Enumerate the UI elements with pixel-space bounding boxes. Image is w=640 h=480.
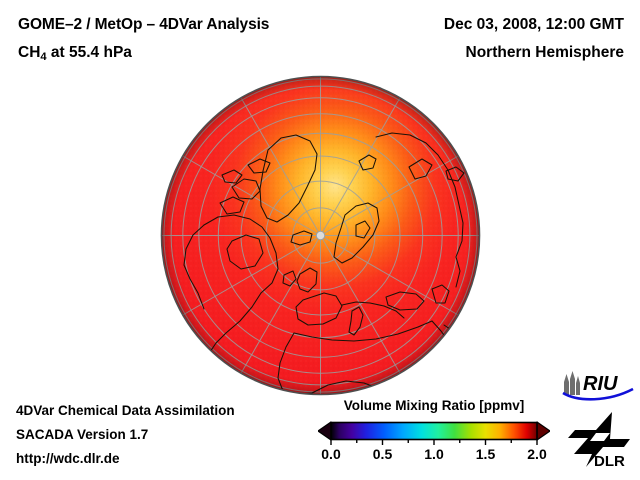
- colorbar-cap-min: [318, 422, 331, 440]
- colorbar-tick-labels: 0.00.51.01.52.0: [318, 446, 550, 466]
- species-suffix: at 55.4 hPa: [47, 44, 132, 61]
- colorbar-cap-max: [537, 422, 550, 440]
- dlr-wordmark: DLR: [594, 453, 625, 469]
- colorbar-title: Volume Mixing Ratio [ppmv]: [318, 398, 550, 413]
- colorbar-gradient: [331, 423, 537, 440]
- species-prefix: CH: [18, 44, 40, 61]
- riu-wordmark: RIU: [583, 373, 618, 395]
- globe-limb-shade: [162, 77, 480, 395]
- page-title: GOME–2 / MetOp – 4DVar Analysis: [18, 16, 269, 34]
- riu-logo: RIU: [560, 369, 636, 403]
- colorbar-tick-label: 0.0: [321, 446, 340, 462]
- footer-line-3: http://wdc.dlr.de: [16, 451, 120, 466]
- footer-line-2: SACADA Version 1.7: [16, 427, 148, 442]
- datetime-label: Dec 03, 2008, 12:00 GMT: [444, 16, 624, 34]
- colorbar-tick-label: 1.5: [476, 446, 495, 462]
- visualization-page: GOME–2 / MetOp – 4DVar Analysis CH4 at 5…: [0, 0, 640, 480]
- colorbar: Volume Mixing Ratio [ppmv] 0.00.51.01.52…: [318, 398, 550, 470]
- footer-line-1: 4DVar Chemical Data Assimilation: [16, 403, 235, 418]
- colorbar-ticks: [331, 440, 537, 446]
- region-label: Northern Hemisphere: [466, 44, 624, 62]
- species-level-label: CH4 at 55.4 hPa: [18, 44, 132, 63]
- riu-tower-icon: [564, 371, 580, 395]
- globe-map: [160, 75, 481, 396]
- colorbar-tick-label: 2.0: [527, 446, 546, 462]
- colorbar-tick-label: 0.5: [373, 446, 392, 462]
- colorbar-tick-label: 1.0: [424, 446, 443, 462]
- dlr-logo: DLR: [566, 411, 632, 469]
